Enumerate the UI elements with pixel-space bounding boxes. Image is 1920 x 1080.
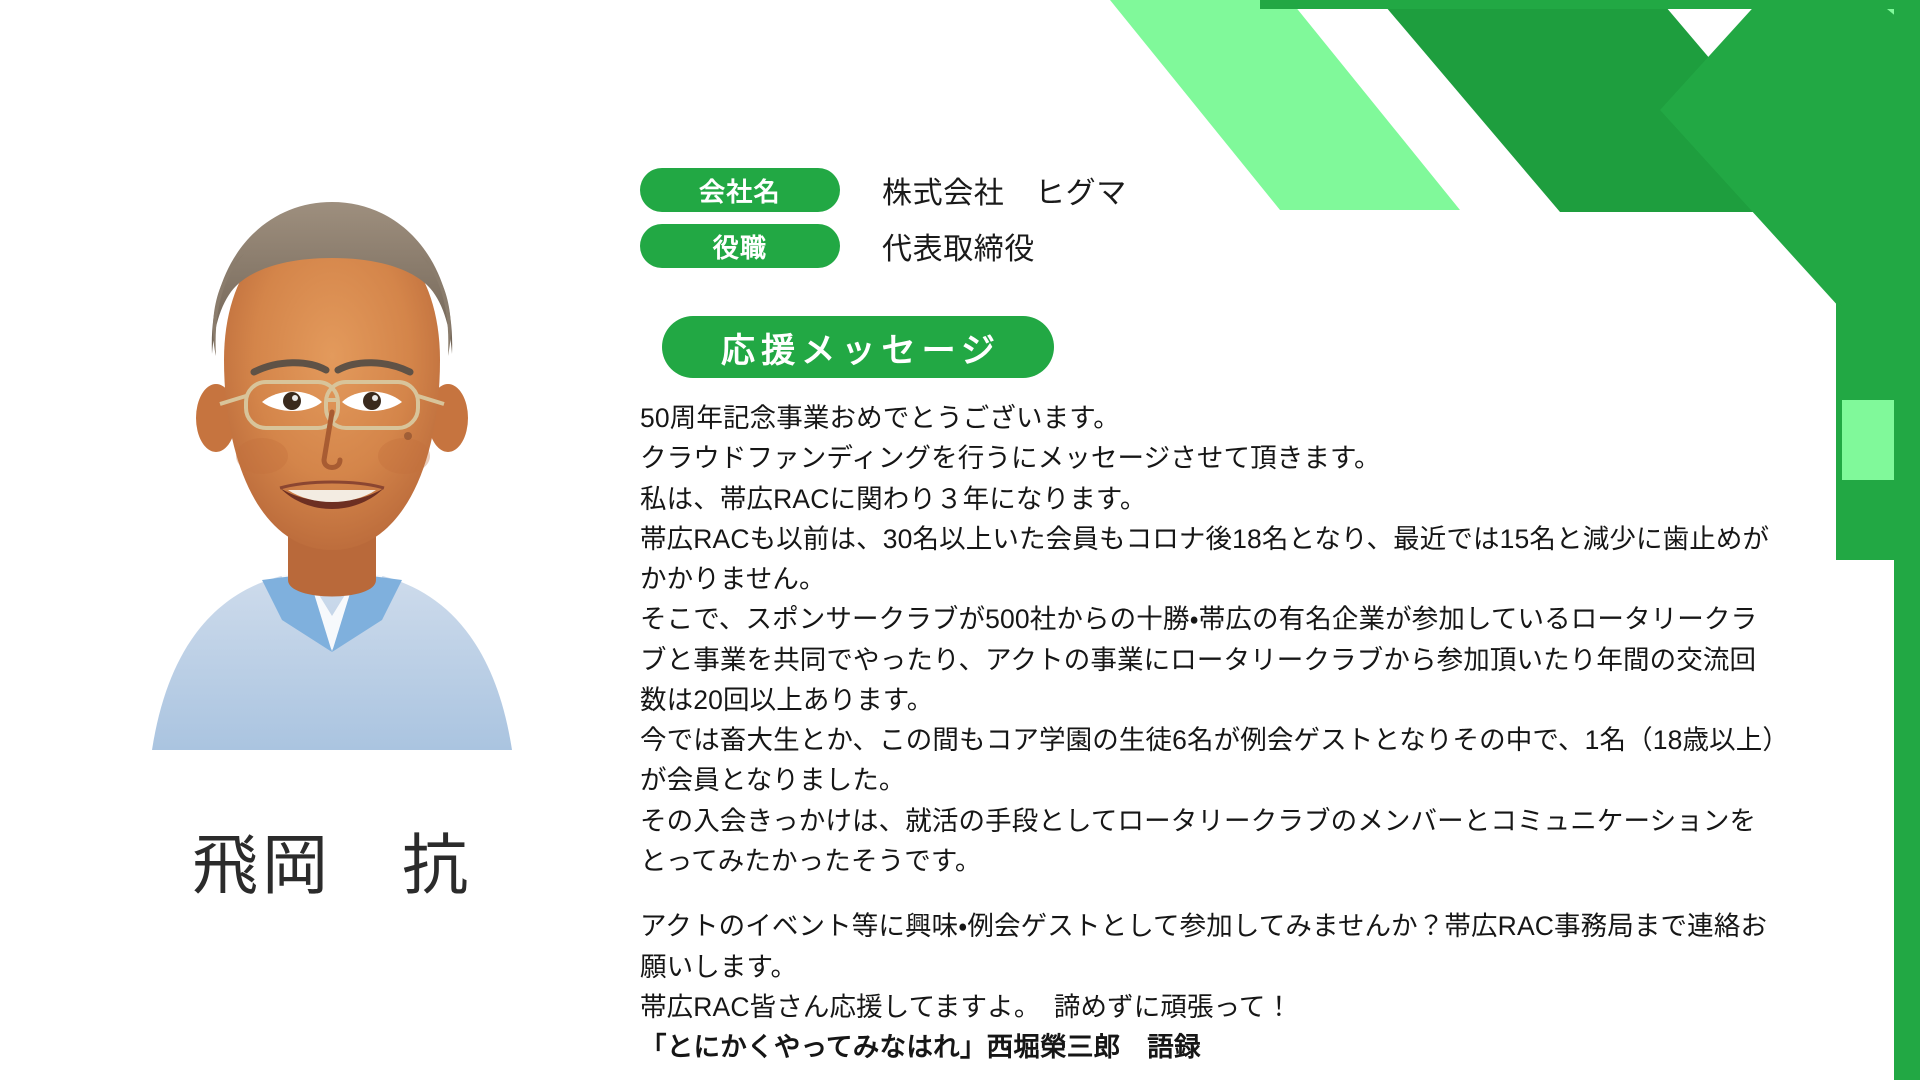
message-line: 私は、帯広RACに関わり３年になります。 (640, 479, 1780, 519)
message-line: 50周年記念事業おめでとうございます。 (640, 398, 1780, 438)
message-column: 会社名 株式会社 ヒグマ 役職 代表取締役 応援メッセージ 50周年記念事業おめ… (640, 0, 1820, 1080)
supporter-message-card: 飛岡 抗 会社名 株式会社 ヒグマ 役職 代表取締役 応援メッセージ 50周年記… (0, 0, 1920, 1080)
message-line: 今では畜大生とか、この間もコア学園の生徒6名が例会ゲストとなりその中で、1名（1… (640, 720, 1780, 801)
message-line: クラウドファンディングを行うにメッセージさせて頂きます。 (640, 438, 1780, 478)
right-vertical-light-green-block (1842, 400, 1894, 480)
message-line: アクトのイベント等に興味・例会ゲストとして参加してみませんか？帯広RAC事務局ま… (640, 906, 1780, 987)
message-blank-line (640, 881, 1780, 906)
right-edge-band (1894, 0, 1920, 1080)
label-company-name: 会社名 (640, 168, 840, 212)
company-info-block: 会社名 株式会社 ヒグマ 役職 代表取締役 (640, 168, 1127, 280)
value-company-name: 株式会社 ヒグマ (882, 168, 1127, 212)
message-line: 帯広RACも以前は、30名以上いた会員もコロナ後18名となり、最近では15名と減… (640, 519, 1780, 600)
support-message-body: 50周年記念事業おめでとうございます。 クラウドファンディングを行うにメッセージ… (640, 398, 1780, 1067)
portrait-illustration (112, 150, 552, 750)
person-name: 飛岡 抗 (112, 812, 552, 908)
value-position: 代表取締役 (882, 224, 1035, 268)
message-quote-line: 「とにかくやってみなはれ」西堀榮三郎 語録 (640, 1027, 1780, 1067)
portrait-photo (112, 150, 552, 750)
message-line: その入会きっかけは、就活の手段としてロータリークラブのメンバーとコミュニケーショ… (640, 801, 1780, 882)
support-message-heading: 応援メッセージ (662, 316, 1054, 378)
info-row-position: 役職 代表取締役 (640, 224, 1127, 268)
label-position: 役職 (640, 224, 840, 268)
portrait-column: 飛岡 抗 (0, 0, 560, 1080)
info-row-company: 会社名 株式会社 ヒグマ (640, 168, 1127, 212)
message-line: そこで、スポンサークラブが500社からの十勝・帯広の有名企業が参加しているロータ… (640, 599, 1780, 720)
message-line: 帯広RAC皆さん応援してますよ。 諦めずに頑張って！ (640, 987, 1780, 1027)
